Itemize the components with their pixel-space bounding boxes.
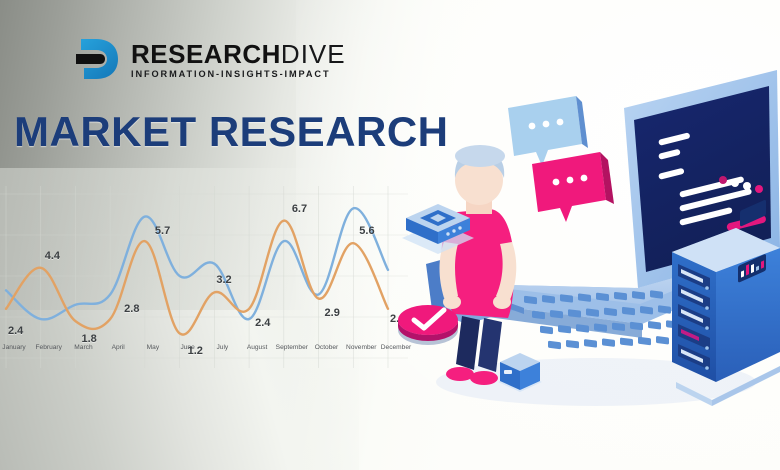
line-chart: 2.44.41.82.85.71.23.22.46.72.95.62.4 bbox=[0, 186, 408, 368]
shoe-left bbox=[446, 367, 474, 381]
isometric-market-research-illustration bbox=[396, 52, 780, 412]
person-seated bbox=[440, 145, 517, 385]
check-token bbox=[398, 305, 458, 345]
chart-tick-label: July bbox=[216, 344, 228, 351]
chart-tick-label: September bbox=[276, 344, 308, 351]
chart-tick-label: February bbox=[36, 344, 62, 351]
chart-data-label: 5.7 bbox=[155, 225, 170, 237]
chart-data-label: 2.4 bbox=[8, 325, 23, 337]
chart-tick-label: August bbox=[247, 344, 268, 351]
chat-bubble-pink bbox=[532, 152, 614, 222]
chart-data-label: 2.8 bbox=[124, 303, 139, 315]
chart-data-label: 3.2 bbox=[216, 274, 231, 286]
shoe-right bbox=[470, 371, 498, 385]
chart-x-axis: JanuaryFebruaryMarchAprilMayJuneJulyAugu… bbox=[0, 344, 408, 360]
research-dive-d-mark-icon bbox=[66, 34, 122, 84]
chart-tick-label: November bbox=[346, 344, 376, 351]
brand-name-light: DIVE bbox=[281, 39, 346, 69]
chart-tick-label: January bbox=[2, 344, 25, 351]
chart-data-label: 4.4 bbox=[45, 250, 60, 262]
chart-tick-label: October bbox=[315, 344, 338, 351]
chart-tick-label: June bbox=[180, 344, 194, 351]
brand-logo[interactable]: RESEARCHDIVE INFORMATION-INSIGHTS-IMPACT bbox=[66, 34, 346, 84]
page-title: MARKET RESEARCH bbox=[14, 108, 449, 156]
brand-wordmark: RESEARCHDIVE INFORMATION-INSIGHTS-IMPACT bbox=[131, 39, 346, 79]
hair-bun bbox=[455, 145, 505, 167]
brand-name-bold: RESEARCH bbox=[131, 39, 281, 69]
chart-data-label: 6.7 bbox=[292, 203, 307, 215]
chart-tick-label: April bbox=[112, 344, 125, 351]
chart-gridlines bbox=[0, 186, 408, 368]
chart-data-label: 5.6 bbox=[359, 225, 374, 237]
poster-canvas: RESEARCHDIVE INFORMATION-INSIGHTS-IMPACT… bbox=[0, 0, 780, 470]
chart-tick-label: May bbox=[147, 344, 159, 351]
chart-data-label: 2.9 bbox=[325, 307, 340, 319]
brand-tagline: INFORMATION-INSIGHTS-IMPACT bbox=[131, 70, 346, 79]
chart-tick-label: March bbox=[74, 344, 92, 351]
chart-data-label: 2.4 bbox=[255, 317, 270, 329]
chat-bubble-blue bbox=[508, 96, 588, 166]
